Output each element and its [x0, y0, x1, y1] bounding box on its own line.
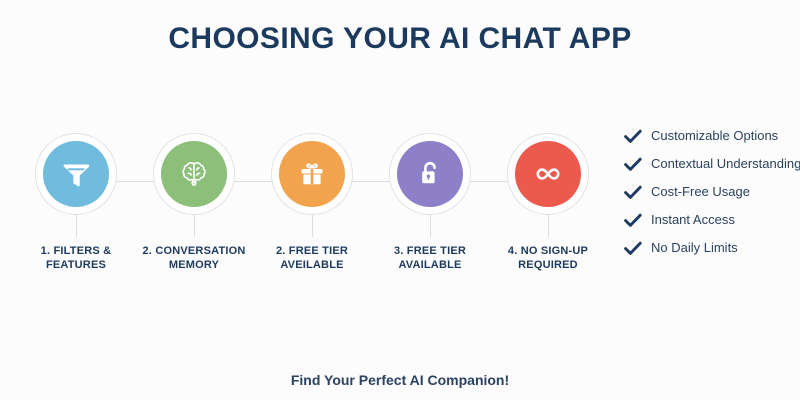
benefits-checklist: Customizable Options Contextual Understa…: [624, 128, 800, 268]
step-circle-ring: [507, 133, 589, 215]
step-circle-fill: [279, 141, 345, 207]
step-item-no-signup-required[interactable]: 4. NO SIGN-UP REQUIRED: [490, 133, 606, 273]
checklist-item: Contextual Understanding: [624, 156, 800, 173]
brain-icon: [177, 157, 211, 191]
checklist-item-label: No Daily Limits: [651, 240, 738, 257]
checklist-item: No Daily Limits: [624, 240, 800, 257]
step-label: 2. FREE TIER AVEILABLE: [254, 245, 370, 273]
step-label: 2. CONVERSATION MEMORY: [136, 245, 252, 273]
step-circle-fill: [43, 141, 109, 207]
step-item-free-tier-aveilable[interactable]: 2. FREE TIER AVEILABLE: [254, 133, 370, 273]
step-item-filters-features[interactable]: 1. FILTERS & FEATURES: [18, 133, 134, 273]
check-icon: [624, 184, 642, 201]
step-stem: [194, 215, 195, 237]
check-icon: [624, 156, 642, 173]
infinity-icon: [530, 156, 566, 192]
checklist-item-label: Contextual Understanding: [651, 156, 800, 173]
gift-icon: [296, 158, 328, 190]
footer-tagline: Find Your Perfect AI Companion!: [0, 372, 800, 388]
checklist-item: Customizable Options: [624, 128, 800, 145]
checklist-item-label: Cost-Free Usage: [651, 184, 750, 201]
unlock-icon: [414, 158, 446, 190]
step-stem: [312, 215, 313, 237]
step-label: 3. FREE TIER AVAILABLE: [372, 245, 488, 273]
step-circle-fill: [515, 141, 581, 207]
checklist-item: Instant Access: [624, 212, 800, 229]
step-stem: [430, 215, 431, 237]
checklist-item-label: Instant Access: [651, 212, 735, 229]
step-item-free-tier-available[interactable]: 3. FREE TIER AVAILABLE: [372, 133, 488, 273]
step-circle-ring: [271, 133, 353, 215]
step-circle-ring: [389, 133, 471, 215]
funnel-icon: [59, 157, 93, 191]
page-title: CHOOSING YOUR AI CHAT APP: [0, 22, 800, 56]
step-label: 1. FILTERS & FEATURES: [18, 245, 134, 273]
steps-row: 1. FILTERS & FEATURES: [18, 133, 598, 283]
step-circle-fill: [397, 141, 463, 207]
step-stem: [76, 215, 77, 237]
step-circle-ring: [153, 133, 235, 215]
step-circle-fill: [161, 141, 227, 207]
check-icon: [624, 212, 642, 229]
check-icon: [624, 128, 642, 145]
checklist-item-label: Customizable Options: [651, 128, 778, 145]
check-icon: [624, 240, 642, 257]
checklist-item: Cost-Free Usage: [624, 184, 800, 201]
step-label: 4. NO SIGN-UP REQUIRED: [490, 245, 606, 273]
step-circle-ring: [35, 133, 117, 215]
step-stem: [548, 215, 549, 237]
step-item-conversation-memory[interactable]: 2. CONVERSATION MEMORY: [136, 133, 252, 273]
